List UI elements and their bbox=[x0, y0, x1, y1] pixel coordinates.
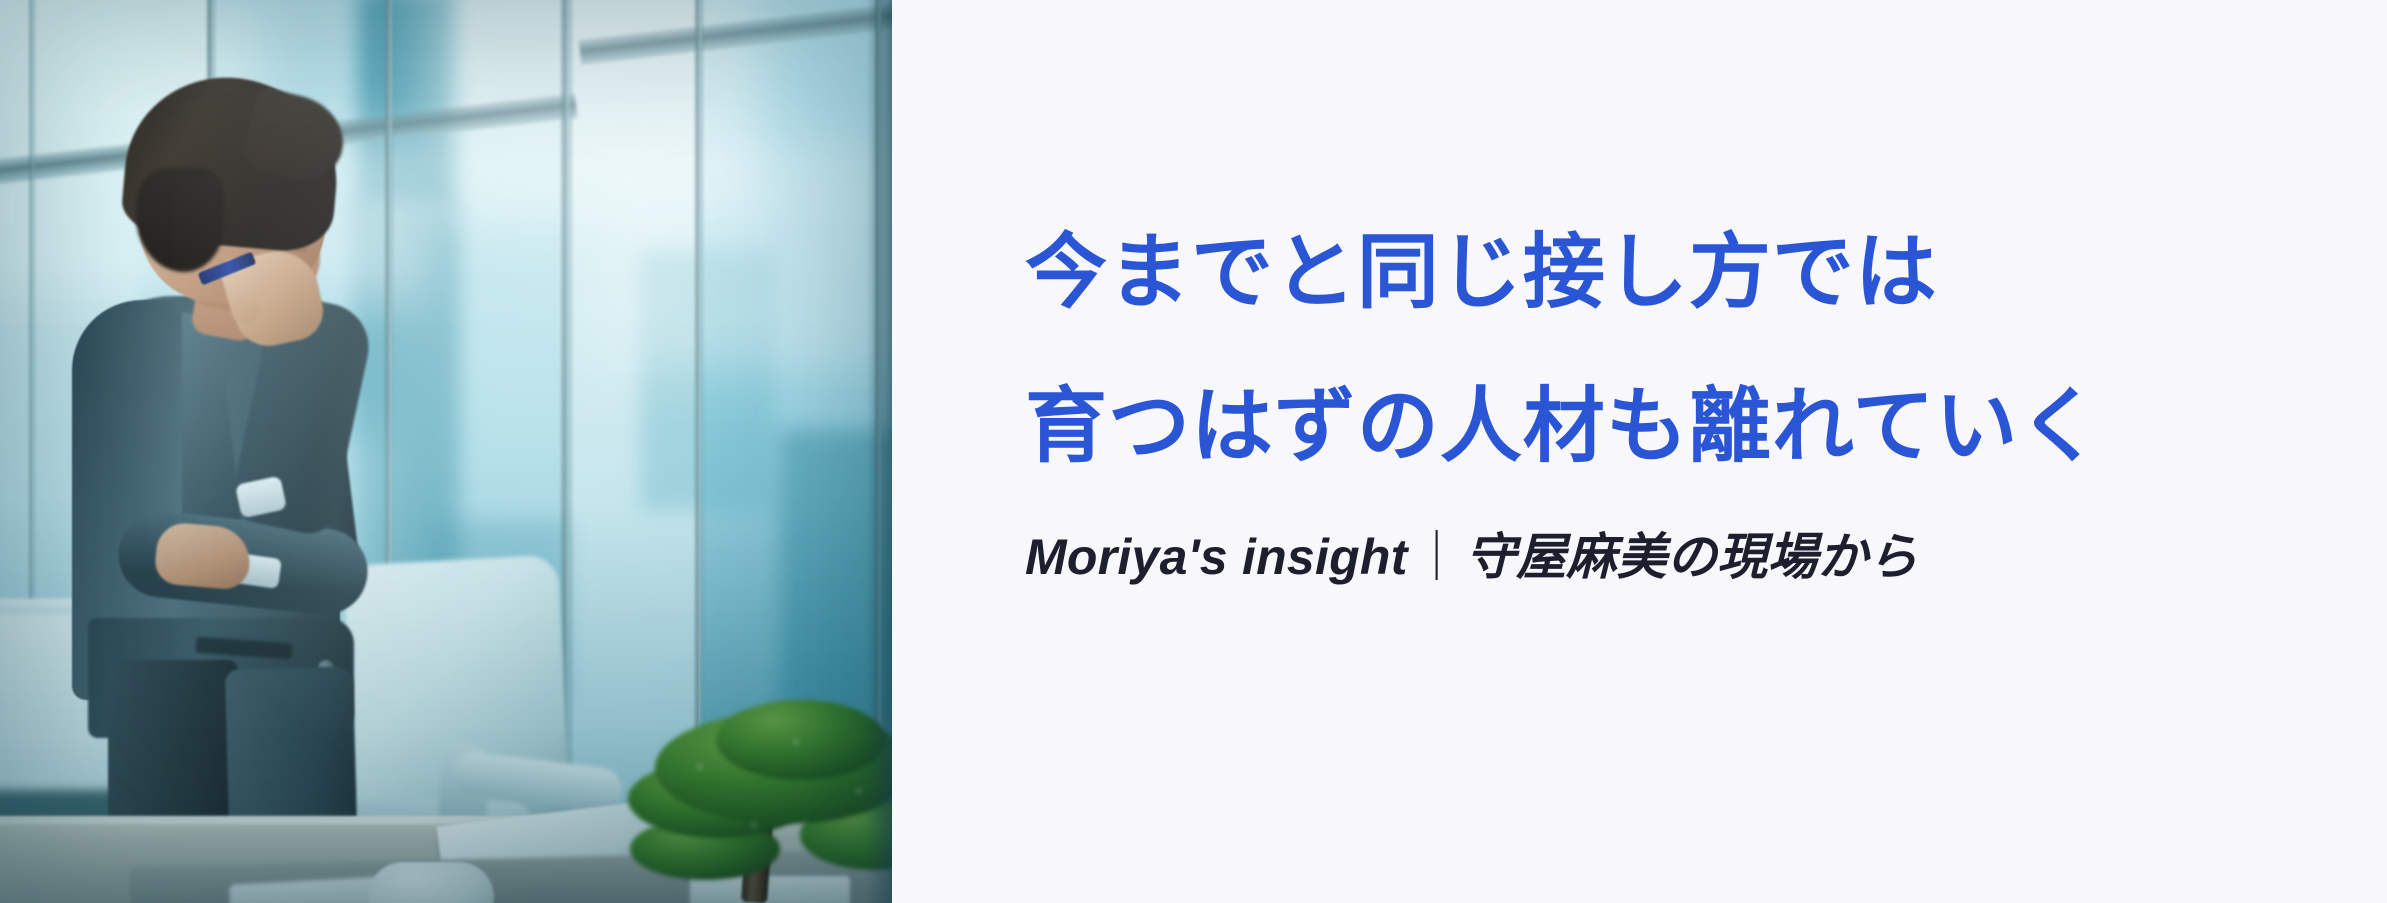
hero-photo bbox=[0, 0, 892, 903]
subtitle-byline: Moriya's insight｜守屋麻美の現場から bbox=[1025, 530, 2327, 585]
bonsai-foliage bbox=[716, 700, 886, 780]
subtitle-japanese: 守屋麻美の現場から bbox=[1466, 529, 1918, 585]
headline-line-1: 今までと同じ接し方では bbox=[1025, 232, 2327, 314]
headline: 今までと同じ接し方では 育つはずの人材も離れていく bbox=[1025, 232, 2327, 530]
computer-mouse bbox=[368, 862, 494, 903]
headline-line-2: 育つはずの人材も離れていく bbox=[1025, 386, 2327, 468]
bonsai-pot bbox=[690, 876, 850, 903]
article-hero-banner: 今までと同じ接し方では 育つはずの人材も離れていく Moriya's insig… bbox=[0, 0, 2387, 903]
subtitle-english: Moriya's insight bbox=[1025, 529, 1408, 585]
subtitle-separator: ｜ bbox=[1408, 529, 1466, 585]
hero-text-panel: 今までと同じ接し方では 育つはずの人材も離れていく Moriya's insig… bbox=[892, 0, 2387, 903]
